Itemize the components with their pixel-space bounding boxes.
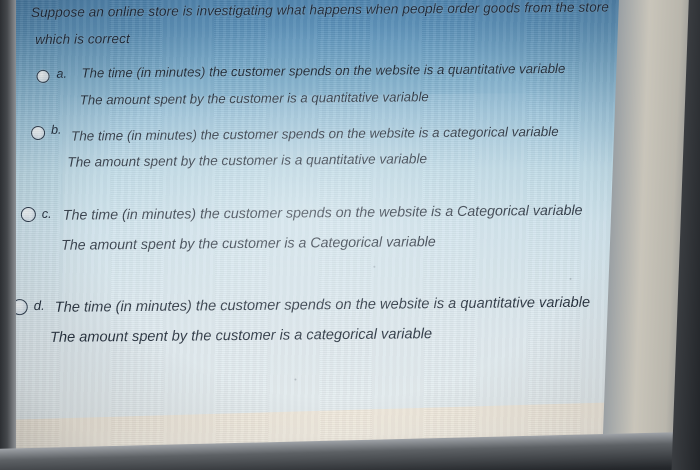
option-a-letter: a. — [56, 67, 67, 81]
option-c-line-1: The time (in minutes) the customer spend… — [63, 203, 583, 224]
option-d-line-1: The time (in minutes) the customer spend… — [55, 295, 591, 316]
question-stem-line-2: which is correct — [35, 31, 130, 47]
monitor-bezel-left — [0, 0, 16, 470]
option-b-line-1: The time (in minutes) the customer spend… — [71, 124, 559, 144]
quiz-question-panel: Suppose an online store is investigating… — [7, 0, 683, 465]
question-stem-line-1: Suppose an online store is investigating… — [31, 0, 609, 20]
option-a-line-1: The time (in minutes) the customer spend… — [81, 61, 565, 81]
option-d-line-2: The amount spent by the customer is a ca… — [50, 326, 432, 346]
option-c-line-2: The amount spent by the customer is a Ca… — [61, 234, 436, 254]
option-d-letter: d. — [34, 298, 45, 313]
photographed-screen: Suppose an online store is investigating… — [0, 0, 700, 470]
radio-button-a-icon[interactable] — [36, 70, 49, 83]
radio-button-c-icon[interactable] — [21, 207, 36, 222]
option-c-letter: c. — [42, 207, 52, 221]
radio-button-b-icon[interactable] — [31, 126, 45, 140]
option-a-line-2: The amount spent by the customer is a qu… — [80, 89, 429, 107]
dust-speck — [294, 378, 296, 380]
option-b-line-2: The amount spent by the customer is a qu… — [67, 151, 427, 169]
dust-speck — [373, 266, 375, 268]
option-b-letter: b. — [51, 123, 62, 137]
dust-speck — [569, 278, 571, 280]
lcd-screen: Suppose an online store is investigating… — [7, 0, 683, 465]
